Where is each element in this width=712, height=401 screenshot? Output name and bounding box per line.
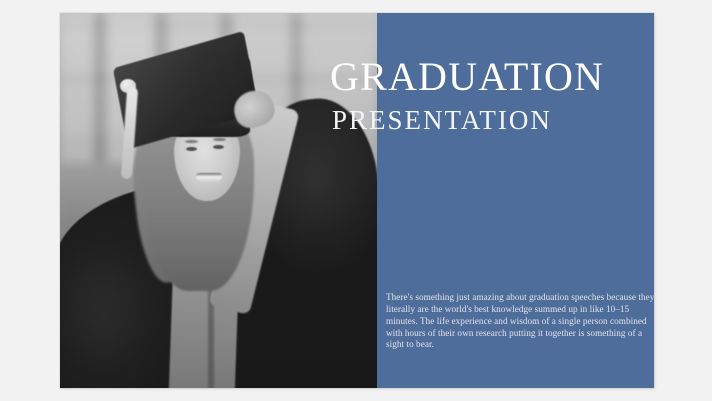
graduate-eye-right [213,145,224,149]
slide-canvas: GRADUATION PRESENTATION There's somethin… [0,0,712,401]
graduate-smile [196,173,222,182]
title-block: GRADUATION PRESENTATION [330,57,654,135]
presentation-slide: GRADUATION PRESENTATION There's somethin… [60,13,654,388]
slide-body-text: There's something just amazing about gra… [386,292,654,351]
graduate-eyebrow-left [185,140,198,143]
slide-subtitle: PRESENTATION [332,106,654,136]
body-block: There's something just amazing about gra… [386,283,654,360]
graduate-eye-left [186,147,197,151]
slide-title: GRADUATION [330,57,654,98]
graduate-eyebrow-right [213,138,226,141]
